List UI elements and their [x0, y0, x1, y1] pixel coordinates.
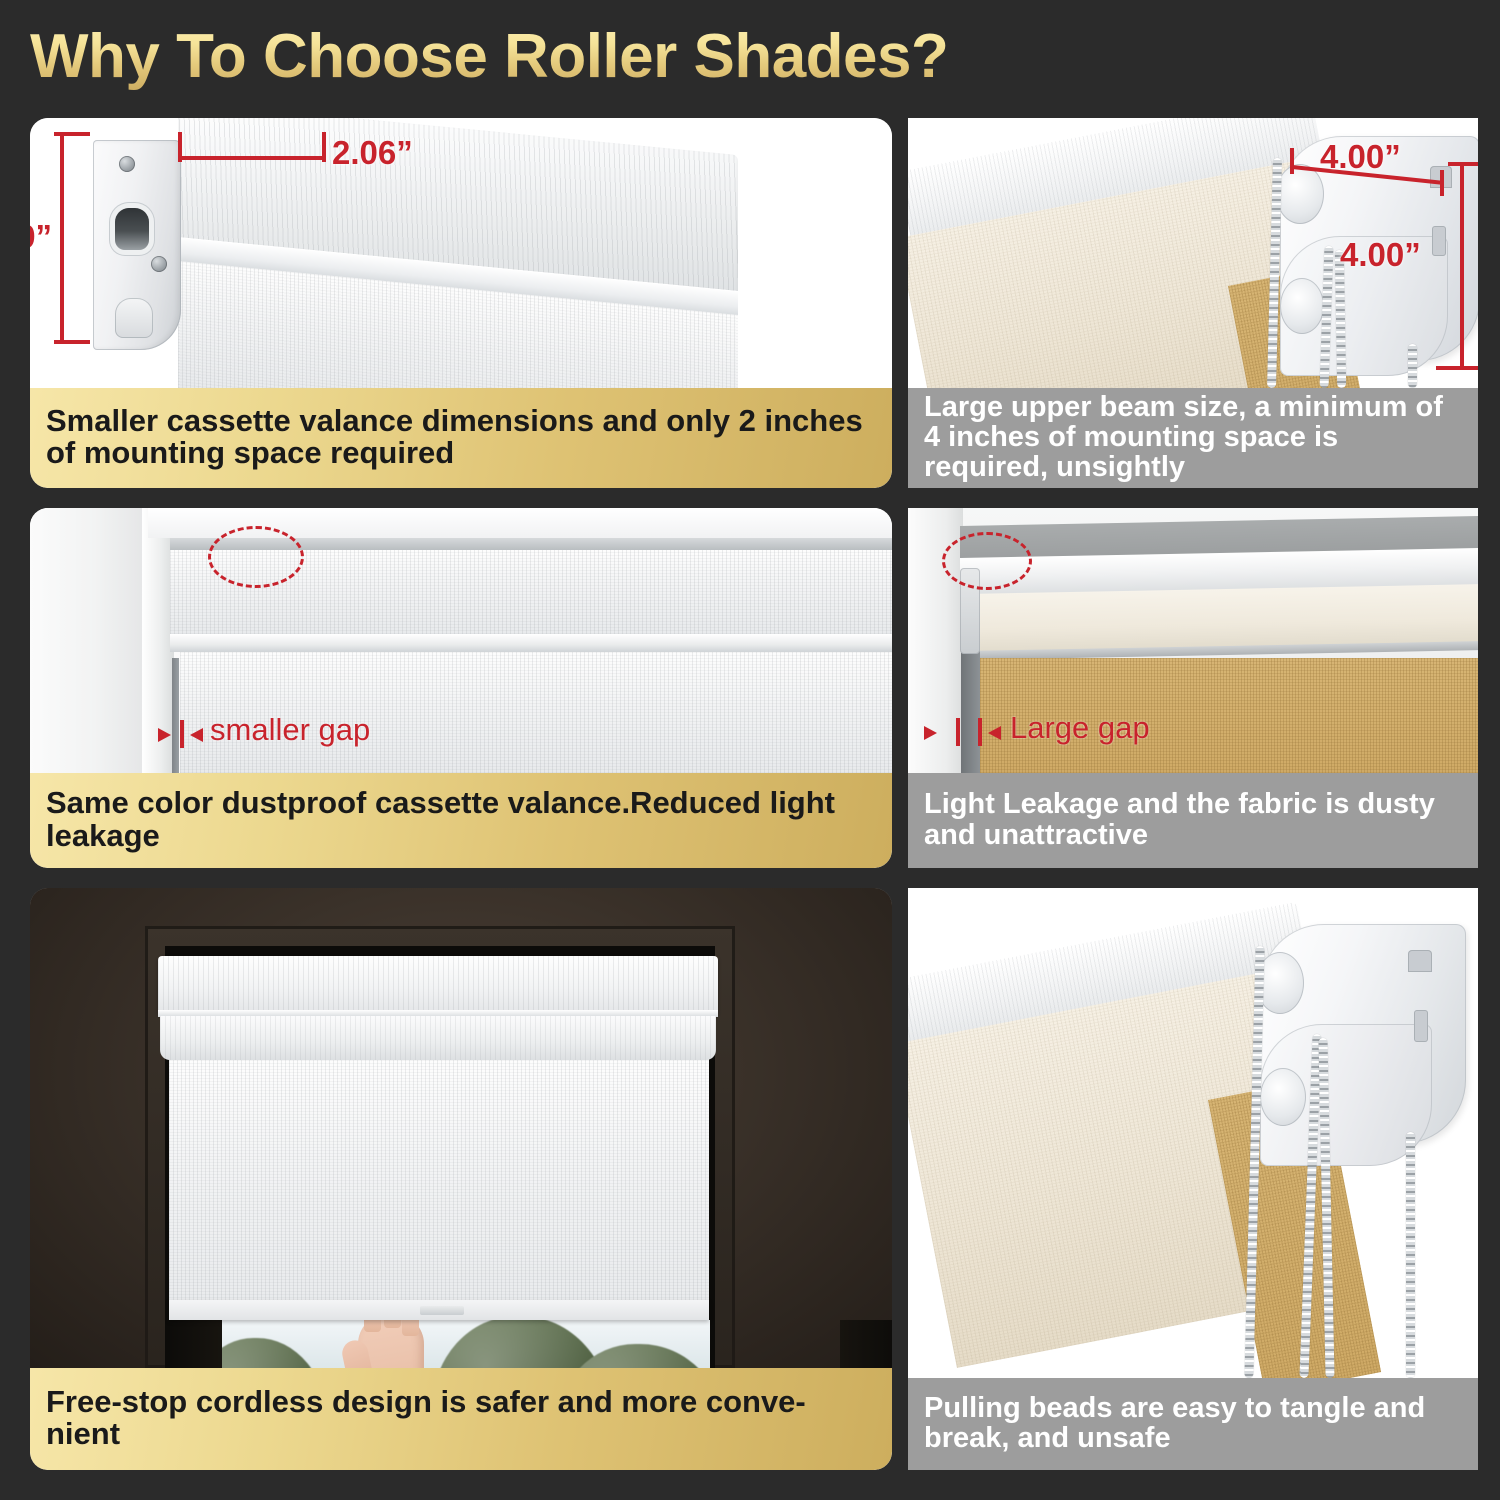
bracket-disc — [1280, 278, 1324, 334]
caption-text: Large upper beam size, a minimum of 4 in… — [924, 392, 1462, 482]
width-dim-tick-left — [1290, 148, 1294, 174]
panel-caption-pulling-beads: Pulling beads are easy to tangle and bre… — [908, 1378, 1478, 1470]
bracket-width-label: 4.00” — [1320, 138, 1401, 176]
gap-tick — [180, 720, 184, 748]
caption-text: Free-stop cordless design is safer and m… — [46, 1386, 876, 1450]
width-dimension-label: 2.06” — [332, 134, 413, 172]
window-sash-left — [170, 1320, 222, 1368]
cassette-valance-photo: 2.06” 5.49” — [30, 118, 892, 388]
cordless-window-photo — [30, 888, 892, 1368]
gap-tick — [956, 718, 960, 746]
highlight-circle-icon — [208, 526, 304, 588]
valance-end-cap — [93, 140, 181, 350]
smaller-gap-photo: smaller gap — [30, 508, 892, 773]
width-dim-tick-left — [178, 132, 182, 162]
valance-bottom-edge — [170, 634, 892, 652]
height-dim-tick-top — [54, 132, 90, 136]
panel-caption-large-beam: Large upper beam size, a minimum of 4 in… — [908, 388, 1478, 488]
height-dim-tick-bottom — [1436, 366, 1478, 370]
panel-dustproof-valance: smaller gap Same color dustproof cassett… — [30, 508, 892, 868]
side-gap — [172, 658, 179, 773]
caption-text: Smaller cassette valance dimensions and … — [46, 405, 876, 469]
cord-slot — [115, 208, 149, 250]
width-dim-tick-right — [1440, 170, 1444, 196]
bead-chain[interactable] — [1408, 344, 1417, 388]
large-gap-label: Large gap — [1010, 710, 1150, 746]
height-dim-tick-top — [1448, 162, 1478, 166]
highlight-circle-icon — [942, 532, 1032, 590]
cassette-valance — [158, 956, 718, 1014]
height-dim-line — [60, 132, 64, 344]
panel-caption-light-leakage: Light Leakage and the fabric is dusty an… — [908, 773, 1478, 868]
outdoor-view — [170, 1320, 710, 1368]
width-dim-tick-right — [322, 132, 326, 162]
screw-icon — [119, 156, 135, 172]
valance-lower-bar — [160, 1016, 716, 1060]
bracket-notch — [1432, 226, 1446, 256]
panel-large-upper-beam: 4.00” 4.00” Large upper beam size, a min… — [908, 118, 1478, 488]
side-gap — [961, 650, 980, 773]
gap-tick — [978, 718, 982, 746]
gap-arrow-left-icon — [190, 728, 203, 742]
height-dim-tick-bottom — [54, 340, 90, 344]
panel-light-leakage: Large gap Light Leakage and the fabric i… — [908, 508, 1478, 868]
bracket-notch — [1414, 1010, 1428, 1042]
caption-text: Light Leakage and the fabric is dusty an… — [924, 789, 1462, 849]
height-dim-line — [1460, 162, 1464, 370]
width-dim-line — [180, 156, 326, 160]
gap-arrow-right-icon — [158, 728, 171, 742]
screw-icon — [151, 256, 167, 272]
bottom-clip — [115, 298, 153, 338]
height-dimension-label: 5.49” — [30, 218, 52, 256]
panel-caption-dustproof: Same color dustproof cassette valance.Re… — [30, 773, 892, 868]
bead-chain[interactable] — [1406, 1132, 1415, 1378]
panel-caption-cordless: Free-stop cordless design is safer and m… — [30, 1368, 892, 1470]
shade-fabric — [169, 1058, 709, 1313]
wall-trim — [30, 508, 148, 773]
bracket-notch — [1408, 950, 1432, 972]
bracket-height-label: 4.00” — [1340, 236, 1421, 274]
comparison-grid: 2.06” 5.49” Smaller cassette valance dim… — [0, 0, 1500, 1500]
window-sash-right — [840, 1320, 892, 1368]
panel-caption-smaller-cassette: Smaller cassette valance dimensions and … — [30, 388, 892, 488]
large-bracket-photo: 4.00” 4.00” — [908, 118, 1478, 388]
bead-chain-photo — [908, 888, 1478, 1378]
panel-cordless-design: Free-stop cordless design is safer and m… — [30, 888, 892, 1470]
panel-pulling-beads: Pulling beads are easy to tangle and bre… — [908, 888, 1478, 1470]
large-gap-photo: Large gap — [908, 508, 1478, 773]
gap-arrow-left-icon — [988, 726, 1001, 740]
smaller-gap-label: smaller gap — [210, 712, 370, 748]
bracket-disc — [1260, 1068, 1306, 1126]
gap-arrow-right-icon — [924, 726, 937, 740]
panel-smaller-cassette: 2.06” 5.49” Smaller cassette valance dim… — [30, 118, 892, 488]
caption-text: Pulling beads are easy to tangle and bre… — [924, 1393, 1462, 1453]
pull-grip[interactable] — [420, 1306, 464, 1315]
bracket-disc — [1276, 164, 1324, 224]
caption-text: Same color dustproof cassette valance.Re… — [46, 787, 876, 851]
